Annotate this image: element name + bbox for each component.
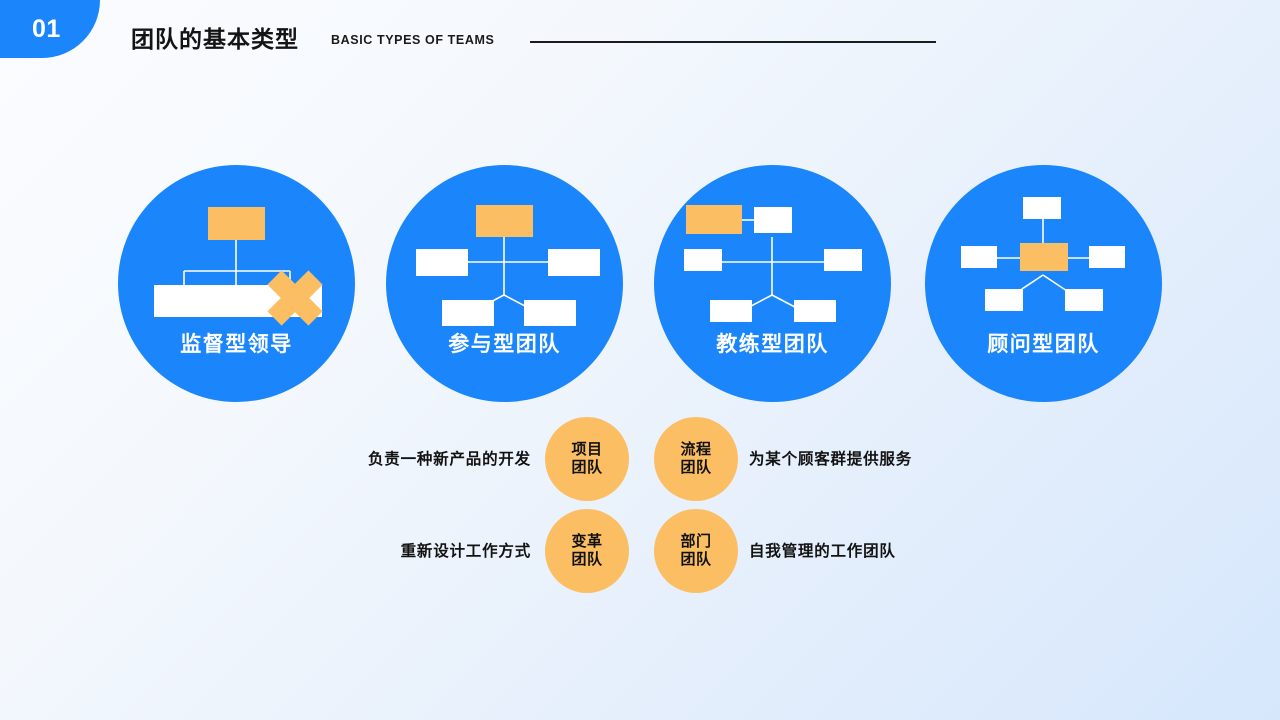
team-circle-supervisory[interactable]: 监督型领导: [118, 165, 355, 402]
matrix-orb-change-team[interactable]: 变革 团队: [545, 509, 629, 593]
orb-line-1: 项目: [571, 441, 602, 459]
orb-line-1: 变革: [571, 533, 602, 551]
matrix-caption-left-1: 负责一种新产品的开发: [368, 452, 531, 468]
team-circle-advisory[interactable]: 顾问型团队: [925, 165, 1162, 402]
page-subtitle: BASIC TYPES OF TEAMS: [331, 34, 494, 47]
matrix-caption-left-2: 重新设计工作方式: [401, 544, 531, 560]
orb-line-1: 部门: [680, 533, 711, 551]
team-circle-label: 顾问型团队: [925, 334, 1162, 355]
org-chart-hub-center-advisor-icon: [925, 165, 1162, 402]
matrix-caption-right-2: 自我管理的工作团队: [749, 544, 896, 560]
org-chart-hierarchy-blocked-icon: [118, 165, 355, 402]
matrix-orb-process-team[interactable]: 流程 团队: [654, 417, 738, 501]
section-number: 01: [32, 17, 61, 42]
slide-canvas: 01 团队的基本类型 BASIC TYPES OF TEAMS: [0, 0, 1280, 720]
org-chart-hub-side-coach-icon: [654, 165, 891, 402]
team-circle-participative[interactable]: 参与型团队: [386, 165, 623, 402]
team-circle-coaching[interactable]: 教练型团队: [654, 165, 891, 402]
page-title: 团队的基本类型: [131, 28, 299, 51]
orb-line-1: 流程: [680, 441, 711, 459]
matrix-caption-right-1: 为某个顾客群提供服务: [749, 452, 912, 468]
team-circle-label: 教练型团队: [654, 334, 891, 355]
orb-line-2: 团队: [680, 459, 711, 477]
team-circle-label: 监督型领导: [118, 334, 355, 355]
orb-line-2: 团队: [571, 551, 602, 569]
header-divider-line: [530, 41, 936, 43]
orb-line-2: 团队: [680, 551, 711, 569]
matrix-orb-department-team[interactable]: 部门 团队: [654, 509, 738, 593]
org-chart-hub-top-leader-icon: [386, 165, 623, 402]
matrix-orb-project-team[interactable]: 项目 团队: [545, 417, 629, 501]
orb-line-2: 团队: [571, 459, 602, 477]
team-circle-label: 参与型团队: [386, 334, 623, 355]
